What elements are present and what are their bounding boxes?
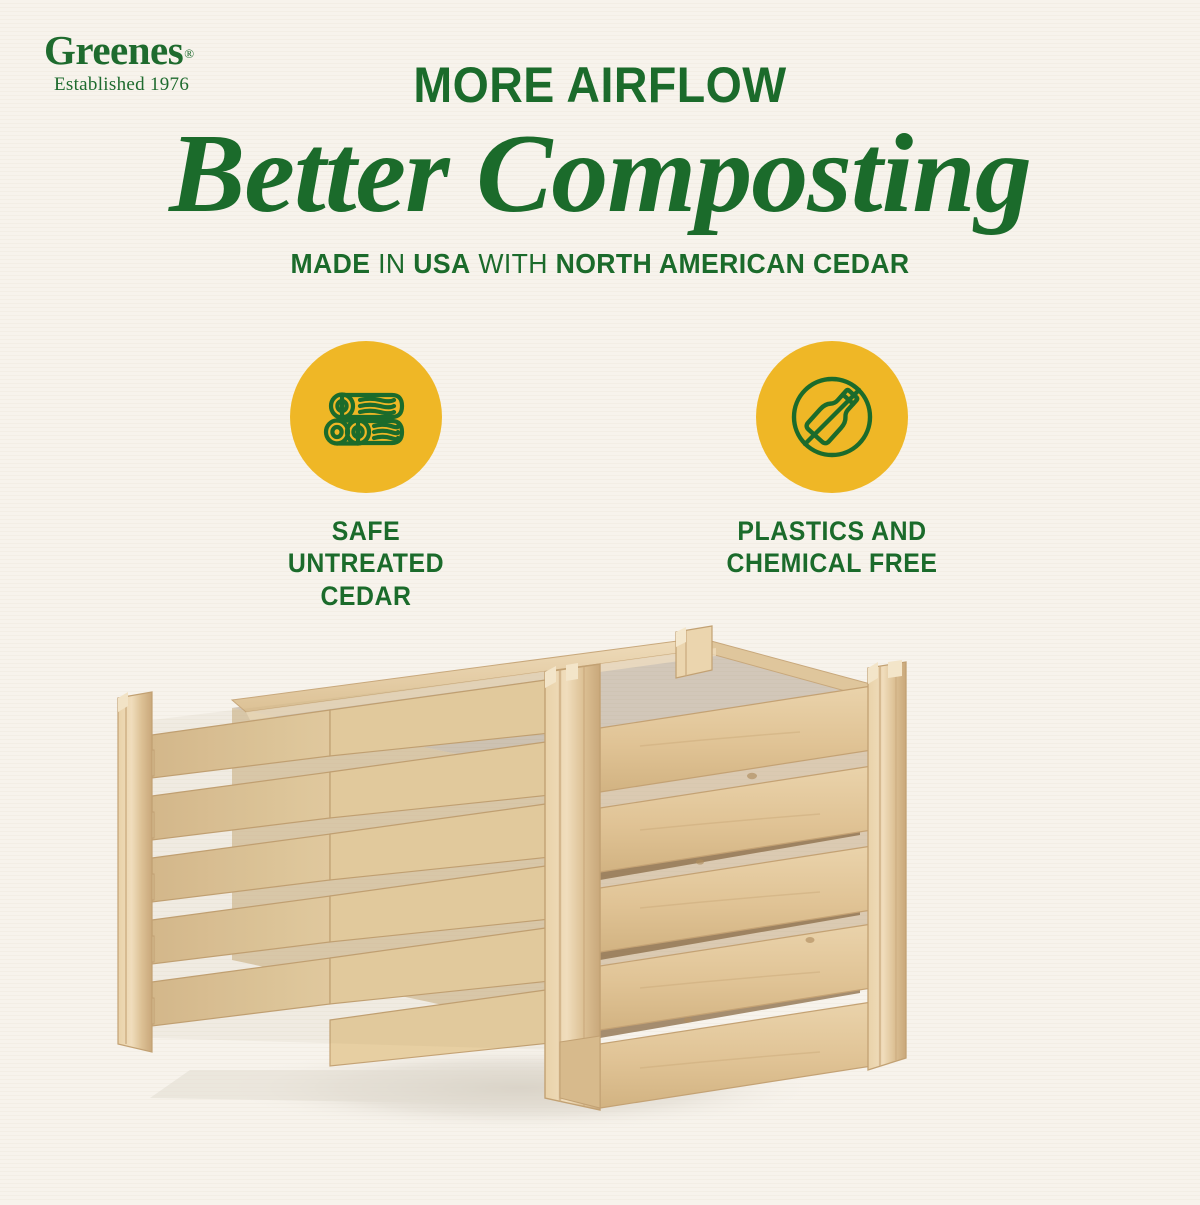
badge-caption-line: CHEMICAL FREE <box>694 547 970 579</box>
badge-caption: PLASTICS AND CHEMICAL FREE <box>694 515 970 580</box>
bin-post-far-right <box>868 660 906 1070</box>
stacked-logs-icon <box>314 365 418 469</box>
badge-caption-line: PLASTICS AND <box>694 515 970 547</box>
headline-script: Better Composting <box>0 115 1200 234</box>
registered-trademark-icon: ® <box>184 46 194 61</box>
badge-caption-line: SAFE <box>228 515 504 547</box>
no-plastic-bottle-icon <box>780 365 884 469</box>
badge-caption-line: UNTREATED <box>228 547 504 579</box>
tagline-word-usa: USA <box>413 248 470 279</box>
badge-caption: SAFE UNTREATED CEDAR <box>228 515 504 612</box>
badge-plastics-chemical-free: PLASTICS AND CHEMICAL FREE <box>682 341 982 580</box>
badge-circle <box>756 341 908 493</box>
product-image <box>0 600 1200 1200</box>
cedar-compost-bin <box>0 600 1200 1200</box>
feature-badges: SAFE UNTREATED CEDAR <box>0 341 1200 621</box>
bin-post-rear-left <box>118 692 152 1052</box>
tagline-word-with: WITH <box>478 248 547 279</box>
badge-safe-untreated-cedar: SAFE UNTREATED CEDAR <box>216 341 516 612</box>
badge-circle <box>290 341 442 493</box>
headline-kicker: MORE AIRFLOW <box>42 60 1158 111</box>
tagline-word-made: MADE <box>290 248 370 279</box>
tagline-word-cedar: NORTH AMERICAN CEDAR <box>556 248 910 279</box>
bin-left-face <box>132 670 560 1066</box>
marketing-image: Greenes® Established 1976 MORE AIRFLOW B… <box>0 0 1200 1200</box>
tagline-word-in: IN <box>378 248 405 279</box>
bin-post-rear-center <box>676 626 712 678</box>
headline-tagline: MADE IN USA WITH NORTH AMERICAN CEDAR <box>30 248 1170 280</box>
headline-block: MORE AIRFLOW Better Composting MADE IN U… <box>0 60 1200 280</box>
